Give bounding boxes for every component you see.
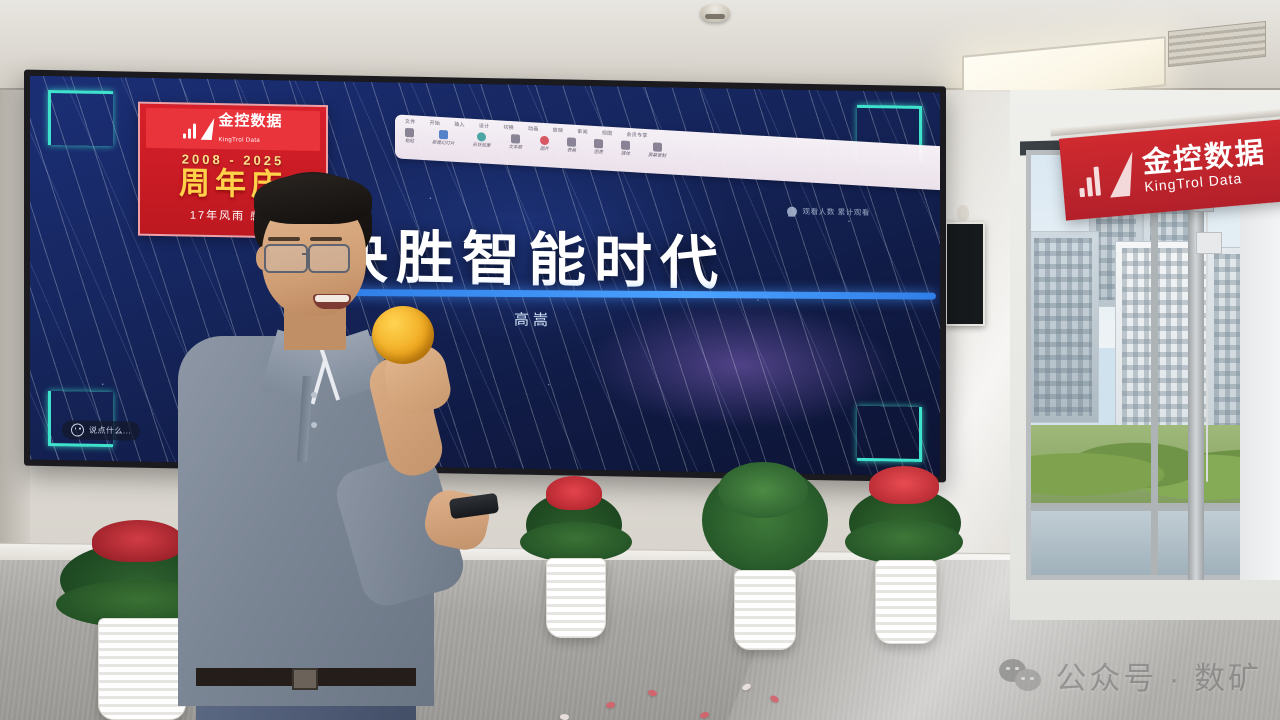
microphone-windscreen [372,306,434,364]
ribbon-menu-item[interactable]: 审阅 [577,128,588,136]
ribbon-menu-item[interactable]: 插入 [454,121,465,129]
smiley-icon [71,423,84,436]
ribbon-tool-new-slide[interactable]: 新建幻灯片 [432,129,455,146]
eyebrow-right [310,237,342,241]
rose-petal [559,713,569,720]
comment-chip[interactable]: 说点什么... [62,420,140,440]
smoke-detector-icon [700,4,730,22]
window-mullion-vertical [1151,155,1158,575]
potted-plant [700,462,830,662]
sail-logo-icon [1110,152,1132,198]
potted-plant [845,462,965,658]
ribbon-tool-picture[interactable]: 图片 [540,136,549,153]
bar-chart-logo-icon [1077,158,1101,198]
shirt-button [311,392,317,398]
building [1027,231,1099,423]
ribbon-menu-item[interactable]: 视图 [602,129,613,137]
ribbon-menu-item[interactable]: 切换 [503,124,514,132]
ribbon-tool-shape[interactable]: 形状效果 [473,132,491,149]
ribbon-menu-item[interactable]: 会员专享 [626,131,647,139]
ribbon-tool-chart[interactable]: 图表 [594,139,603,156]
screenshot-root: 金控数据 KingTrol Data 2008 - 2025 周年庆 17年风雨… [0,0,1280,720]
shirt-button [311,422,317,428]
speaker-mount [957,205,969,221]
sail-logo-icon [201,118,215,140]
hair-fringe [254,174,372,224]
watermark: 公众号 · 数矿 [999,653,1262,698]
anniversary-logo: 金控数据 KingTrol Data [146,108,320,151]
window-right-panel [1240,150,1280,580]
wechat-icon [999,659,1043,693]
watermark-label: 公众号 · 数矿 [1055,653,1262,698]
glasses-bridge [302,253,310,255]
eyebrow-left [268,237,300,241]
ribbon-menu-item[interactable]: 设计 [479,122,490,130]
ribbon-tool-text[interactable]: 文本框 [509,134,523,151]
glasses-lens-right [308,244,350,273]
user-icon [787,206,797,216]
corner-bracket-bottom-right [857,406,922,462]
slide-speaker-name: 高嵩 [514,309,552,331]
wall-speaker [945,222,985,326]
ribbon-tool-table[interactable]: 表格 [567,137,576,154]
viewer-status-label: 观看人数 累计观看 [803,206,870,218]
ribbon-tool-media[interactable]: 媒体 [621,141,630,158]
presenter [150,160,480,720]
ribbon-menu-item[interactable]: 动画 [528,125,539,133]
ribbon-menu-item[interactable]: 放映 [553,127,564,135]
viewer-status: 观看人数 累计观看 [787,206,870,219]
potted-plant [520,470,630,650]
corner-bracket-top-left [48,90,113,146]
anniversary-logo-cn: 金控数据 [218,112,282,130]
ribbon-menu-item[interactable]: 文件 [405,118,416,126]
ribbon-tool-paste[interactable]: 粘贴 [405,128,414,145]
belt-buckle [292,668,318,690]
mouth [313,294,351,309]
comment-chip-label: 说点什么... [89,425,131,437]
wall-device [1196,232,1222,254]
bar-chart-logo-icon [183,118,196,138]
anniversary-logo-en: KingTrol Data [218,137,260,144]
ribbon-tool-screen-record[interactable]: 屏幕录制 [648,142,666,159]
glasses-lens-left [264,244,308,273]
ribbon-menu-item[interactable]: 开始 [430,119,441,127]
